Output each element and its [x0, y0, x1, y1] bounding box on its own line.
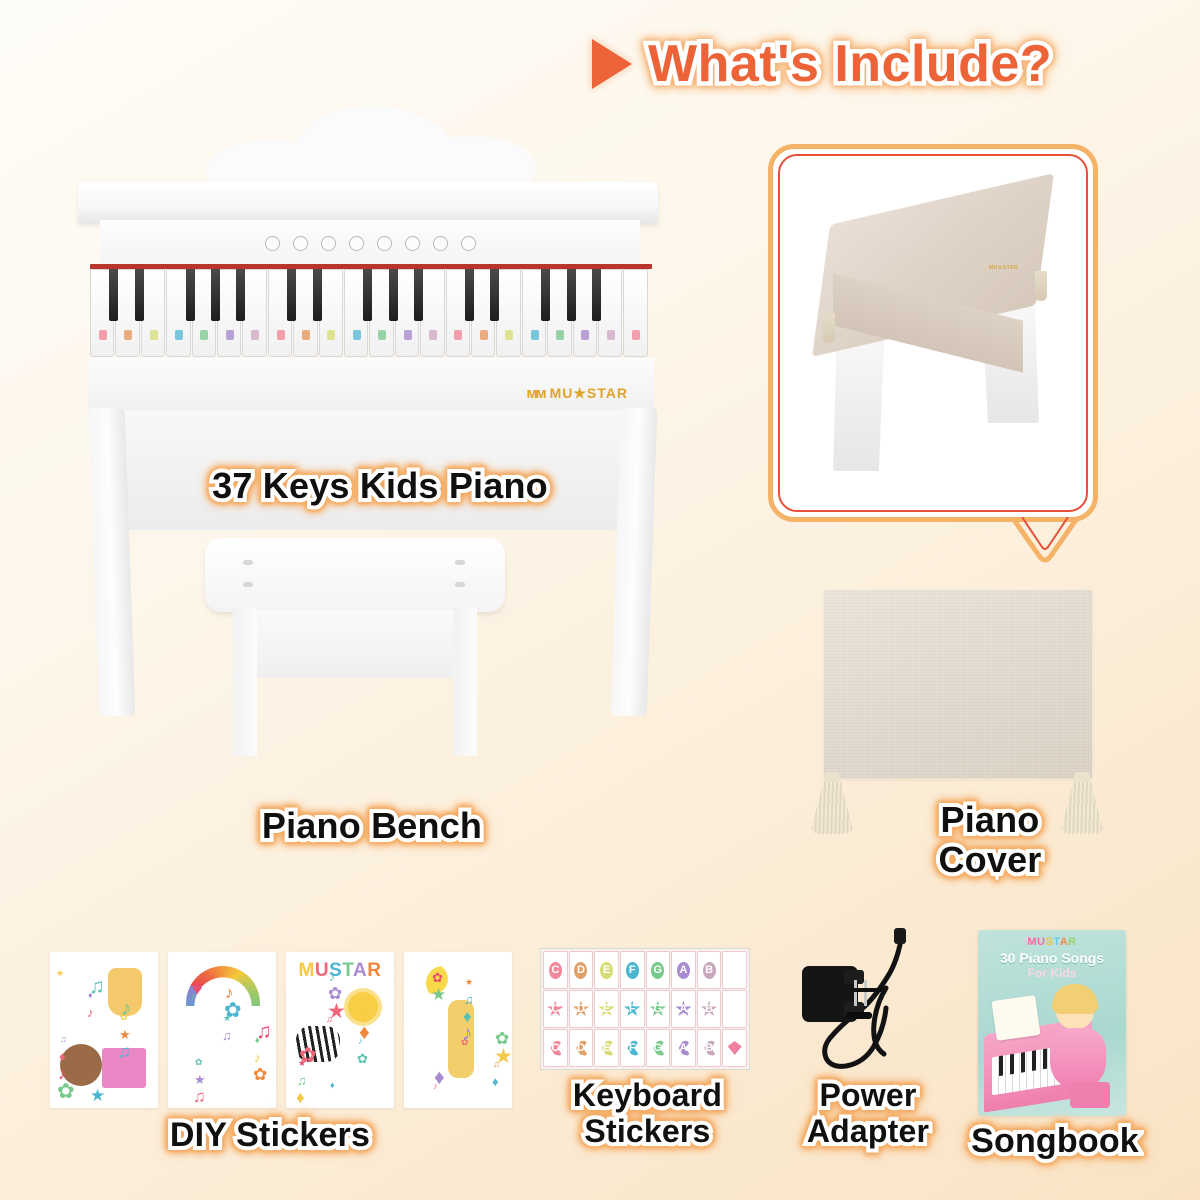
- piano-white-key[interactable]: [598, 269, 622, 357]
- keyboard-sticker-note: B: [701, 1001, 718, 1018]
- keyboard-sticker-card: C: [543, 990, 568, 1028]
- keyboard-sticker-card: F: [620, 990, 645, 1028]
- screw-hole: [455, 582, 465, 587]
- control-button[interactable]: [349, 236, 364, 251]
- piano-white-key[interactable]: [141, 269, 165, 357]
- piano-control-panel: [100, 220, 640, 266]
- keyboard-sticker-note: G: [651, 962, 664, 979]
- piano-fallboard: ᴍᴍ MU★STAR: [88, 358, 654, 412]
- sticker-word-mustar: MUSTAR: [286, 960, 394, 982]
- piano-black-key[interactable]: [541, 269, 550, 321]
- sticker-glyph: ★: [56, 968, 64, 979]
- keyboard-sticker-note: G: [649, 1001, 666, 1018]
- key-note-sticker: [531, 330, 539, 340]
- power-adapter-illustration: [790, 928, 930, 1078]
- piano-black-key[interactable]: [414, 269, 423, 321]
- keyboard-sticker-card: C: [543, 951, 568, 989]
- sticker-glyph: ♪: [254, 1050, 261, 1065]
- sticker-glyph: ♪: [58, 1064, 67, 1084]
- keyboard-sticker-note: D: [572, 1001, 589, 1018]
- keyboard-sticker-note: B: [701, 1040, 717, 1057]
- bench-with-cover-illustration: MU★STAR: [807, 193, 1069, 483]
- sticker-glyph: ★: [90, 1086, 105, 1106]
- sticker-glyph: ♫: [360, 1006, 373, 1026]
- keyboard-sticker-card: B: [697, 1029, 722, 1067]
- cover-tassel-left: [810, 772, 854, 834]
- control-button[interactable]: [461, 236, 476, 251]
- keyboard-sticker-note: C: [549, 962, 562, 979]
- piano-black-key[interactable]: [490, 269, 499, 321]
- cover-label: Piano Cover: [880, 800, 1100, 881]
- songbook-line1: 30 Piano Songs: [978, 950, 1126, 966]
- sticker-glyph: ★: [465, 977, 473, 988]
- sticker-glyph: ♪: [87, 1005, 94, 1020]
- key-note-sticker: [556, 330, 564, 340]
- sticker-glyph: ✿: [432, 970, 443, 986]
- key-note-sticker: [99, 330, 107, 340]
- keyboard-sticker-note: D: [573, 1040, 589, 1057]
- key-note-sticker: [632, 330, 640, 340]
- keyboard-sticker-note: E: [598, 1001, 615, 1018]
- sticker-glyph: ★: [194, 1072, 206, 1088]
- piano-bench-illustration: [205, 538, 505, 738]
- sticker-glyph: ♦: [434, 1066, 445, 1090]
- keyboard-sticker-note: D: [574, 962, 587, 979]
- piano-black-key[interactable]: [363, 269, 372, 321]
- sticker-glyph: ♫: [297, 1073, 307, 1088]
- keyboard-sticker-card: D: [569, 990, 594, 1028]
- keyboard-sticker-note: E: [600, 962, 613, 979]
- piano-white-key[interactable]: [319, 269, 343, 357]
- cover-tassel: [1035, 271, 1047, 301]
- sticker-glyph: ♦: [192, 976, 203, 1000]
- keyboard-sticker-card: D: [569, 1029, 594, 1067]
- key-note-sticker: [251, 330, 259, 340]
- brand-mark-icon: ᴍᴍ: [526, 385, 544, 402]
- piano-black-key[interactable]: [135, 269, 144, 321]
- key-note-sticker: [277, 330, 285, 340]
- keyboard-sticker-card: E: [594, 951, 619, 989]
- screw-hole: [243, 582, 253, 587]
- piano-black-key[interactable]: [465, 269, 474, 321]
- piano-black-key[interactable]: [389, 269, 398, 321]
- piano-black-key[interactable]: [236, 269, 245, 321]
- key-note-sticker: [505, 330, 513, 340]
- keyboard-sticker-note: A: [675, 1040, 691, 1057]
- header: What's Include?: [592, 34, 1052, 94]
- key-note-sticker: [353, 330, 361, 340]
- keyboard-sticker-note: B: [703, 962, 716, 979]
- sticker-glyph: ✿: [328, 984, 342, 1004]
- keyboard-sticker-card: B: [697, 951, 722, 989]
- keyboard-stickers-label: Keyboard Stickers: [545, 1078, 750, 1150]
- power-adapter-label: Power Adapter: [778, 1078, 958, 1150]
- keyboard-stickers-grid: CDEFGABCDEFGABCDEFGAB: [540, 948, 750, 1070]
- songbook-girl-dress: [1050, 1028, 1106, 1090]
- keyboard-sticker-note: C: [547, 1040, 563, 1057]
- control-button[interactable]: [405, 236, 420, 251]
- key-note-sticker: [429, 330, 437, 340]
- keyboard-sticker-card: [722, 1029, 747, 1067]
- keyboard-sticker-note: E: [599, 1040, 615, 1057]
- piano-keybed: [90, 264, 652, 359]
- sticker-glyph: ✿: [495, 1029, 509, 1049]
- diy-sticker-sheet: MUSTAR♫✿♦★♪♫✿♦★♪♫✿♦: [286, 952, 394, 1108]
- bench-leg-right: [453, 608, 477, 756]
- sticker-glyph: ✿: [299, 1043, 317, 1068]
- sticker-glyph: ★: [431, 985, 446, 1005]
- sticker-glyph: ✿: [357, 1051, 368, 1067]
- keyboard-sticker-card: [722, 990, 747, 1028]
- songbook-sheet-music: [991, 995, 1040, 1041]
- diy-sticker-sheet: ✿♦★♪♫✿♦★♪♫✿♦★: [404, 952, 512, 1108]
- sticker-glyph: ♫: [89, 975, 105, 999]
- keyboard-sticker-note: A: [677, 962, 690, 979]
- cover-tassel: [823, 313, 835, 343]
- callout-pointer: [1010, 517, 1080, 563]
- control-button[interactable]: [377, 236, 392, 251]
- sticker-glyph: ✿: [195, 1057, 203, 1068]
- keyboard-sticker-card: F: [620, 1029, 645, 1067]
- piano-white-key[interactable]: [242, 269, 266, 357]
- screw-hole: [455, 560, 465, 565]
- piano-label: 37 Keys Kids Piano: [150, 466, 610, 506]
- bench-apron: [253, 610, 457, 678]
- control-button[interactable]: [321, 236, 336, 251]
- keyboard-sticker-card: C: [543, 1029, 568, 1067]
- bench-seat: [205, 538, 505, 612]
- key-note-sticker: [175, 330, 183, 340]
- sticker-glyph: ♦: [296, 1088, 305, 1108]
- keyboard-sticker-note: A: [675, 1001, 692, 1018]
- keyboard-sticker-note: C: [547, 1001, 564, 1018]
- piano-white-key[interactable]: [496, 269, 520, 357]
- diy-stickers-label: DIY Stickers: [105, 1116, 435, 1154]
- diy-sticker-sheet: ♪♫✿♦★♪♫✿♦★♪♫✿: [168, 952, 276, 1108]
- control-buttons-row: [100, 220, 640, 266]
- sticker-glyph: ♫: [222, 1028, 232, 1043]
- songbook-girl-hair: [1052, 984, 1098, 1014]
- sticker-glyph: ♪: [329, 969, 336, 984]
- piano-black-key[interactable]: [211, 269, 220, 321]
- control-button[interactable]: [265, 236, 280, 251]
- key-note-sticker: [454, 330, 462, 340]
- keyboard-sticker-card: B: [697, 990, 722, 1028]
- songbook-label: Songbook: [960, 1122, 1150, 1160]
- sticker-glyph: ♫: [60, 1034, 67, 1044]
- sticker-glyph: ♪: [121, 997, 132, 1021]
- piano-black-key[interactable]: [567, 269, 576, 321]
- control-button[interactable]: [433, 236, 448, 251]
- sticker-glyph: ♫: [193, 1087, 206, 1107]
- diy-sticker-sheet: ★♪♫✿♦★♪♫✿♦★♪♫: [50, 952, 158, 1108]
- sticker-glyph: ♫: [464, 992, 474, 1007]
- keyboard-sticker-card: [722, 951, 747, 989]
- sticker-glyph: ♦: [59, 1049, 66, 1064]
- sticker-glyph: ♪: [225, 983, 234, 1003]
- songbook-brand: MUSTAR: [978, 936, 1126, 948]
- screw-hole: [243, 560, 253, 565]
- keyboard-sticker-card: G: [646, 1029, 671, 1067]
- cover-brand-mark: MU★STAR: [989, 265, 1018, 271]
- key-note-sticker: [607, 330, 615, 340]
- keyboard-sticker-note: G: [650, 1040, 666, 1057]
- piano-top-lid: [78, 182, 658, 224]
- key-note-sticker: [150, 330, 158, 340]
- keyboard-sticker-note: F: [624, 1001, 641, 1018]
- key-note-sticker: [327, 330, 335, 340]
- keyboard-sticker-note: F: [624, 1040, 640, 1057]
- piano-black-key[interactable]: [313, 269, 322, 321]
- bench-callout-box: MU★STAR: [768, 144, 1098, 522]
- keyboard-sticker-card: E: [594, 1029, 619, 1067]
- sticker-glyph: ♫: [118, 1042, 131, 1062]
- bench-label: Piano Bench: [212, 806, 532, 846]
- key-note-sticker: [378, 330, 386, 340]
- keyboard-sticker-card: F: [620, 951, 645, 989]
- keyboard-sticker-card: D: [569, 951, 594, 989]
- sticker-glyph: ★: [119, 1027, 131, 1043]
- sticker-glyph: ♦: [463, 1007, 472, 1027]
- keyboard-sticker-note: F: [626, 962, 639, 979]
- key-note-sticker: [200, 330, 208, 340]
- sticker-glyph: ♦: [330, 1080, 335, 1090]
- sticker-glyph: ♫: [256, 1020, 272, 1044]
- piano-black-key[interactable]: [592, 269, 601, 321]
- cover-cloth: [824, 590, 1092, 778]
- keyboard-sticker-card: G: [646, 990, 671, 1028]
- songbook-line2: For Kids: [978, 966, 1126, 980]
- keyboard-sticker-card: A: [671, 990, 696, 1028]
- key-note-sticker: [226, 330, 234, 340]
- piano-white-key[interactable]: [623, 269, 647, 357]
- key-note-sticker: [404, 330, 412, 340]
- keyboard-sticker-card: G: [646, 951, 671, 989]
- bench-leg-left: [233, 608, 257, 756]
- songbook-stool: [1070, 1082, 1110, 1108]
- key-note-sticker: [480, 330, 488, 340]
- piano-cover-illustration: [824, 590, 1104, 825]
- keyboard-sticker-card: E: [594, 990, 619, 1028]
- keyboard-sticker-card: A: [671, 951, 696, 989]
- brand-logo: ᴍᴍ MU★STAR: [526, 385, 628, 402]
- piano-white-key[interactable]: [420, 269, 444, 357]
- keyboard-sticker-card: A: [671, 1029, 696, 1067]
- page-title: What's Include?: [648, 34, 1052, 94]
- piano-black-key[interactable]: [287, 269, 296, 321]
- diamond-sticker: [728, 1041, 742, 1055]
- piano-black-key[interactable]: [186, 269, 195, 321]
- sticker-glyph: ✿: [253, 1065, 267, 1085]
- key-note-sticker: [581, 330, 589, 340]
- sticker-glyph: ♦: [492, 1074, 499, 1089]
- key-note-sticker: [302, 330, 310, 340]
- play-triangle-icon: [592, 39, 632, 89]
- brand-name: MU★STAR: [550, 385, 628, 402]
- songbook-illustration: MUSTAR 30 Piano Songs For Kids: [978, 930, 1126, 1116]
- key-note-sticker: [124, 330, 132, 340]
- infographic-canvas: What's Include?: [0, 0, 1200, 1200]
- piano-black-key[interactable]: [109, 269, 118, 321]
- control-button[interactable]: [293, 236, 308, 251]
